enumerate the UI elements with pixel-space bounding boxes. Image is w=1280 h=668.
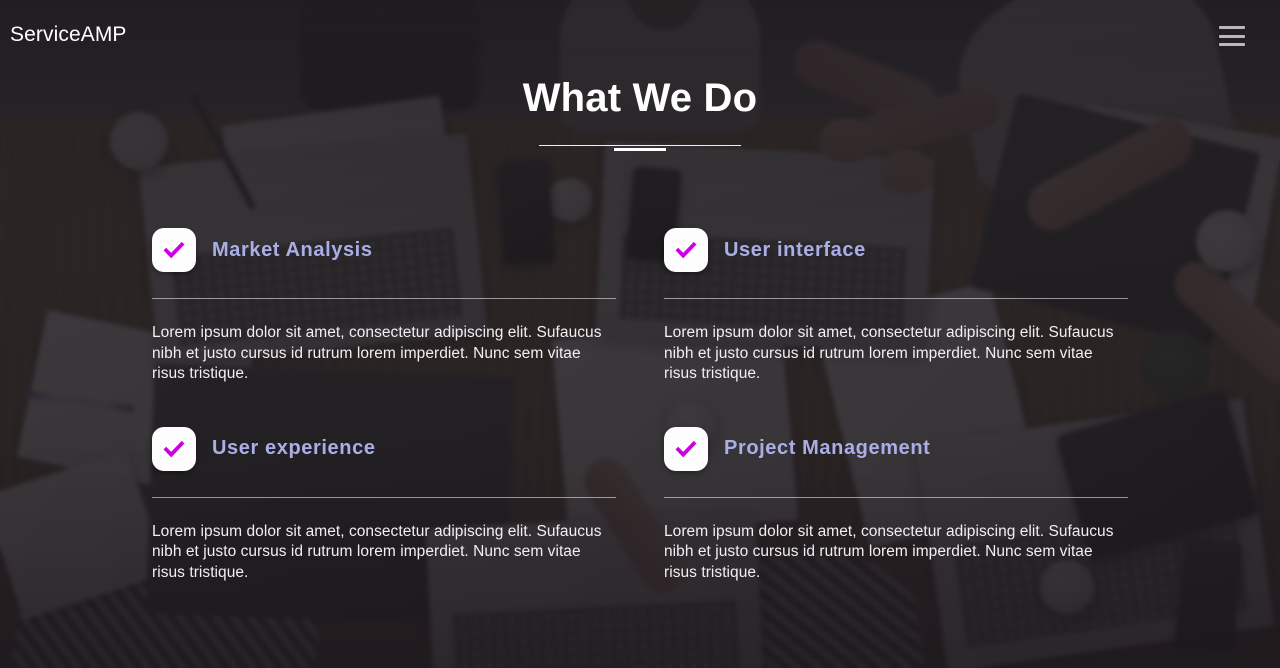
brand-logo[interactable]: ServiceAMP	[10, 24, 127, 45]
service-card-body: Lorem ipsum dolor sit amet, consectetur …	[664, 522, 1116, 584]
hamburger-bar-2	[1219, 35, 1245, 38]
service-card-title: User interface	[724, 239, 866, 262]
heading-divider	[0, 138, 1280, 154]
check-icon	[674, 238, 698, 262]
service-card-header: User experience	[152, 425, 616, 473]
service-card-user-interface[interactable]: User interface Lorem ipsum dolor sit ame…	[664, 226, 1128, 385]
service-card-body: Lorem ipsum dolor sit amet, consectetur …	[152, 522, 604, 584]
service-card-title: User experience	[212, 437, 376, 460]
services-grid: Market Analysis Lorem ipsum dolor sit am…	[152, 226, 1128, 583]
hamburger-bar-1	[1219, 26, 1245, 29]
check-icon	[162, 437, 186, 461]
service-card-rule	[664, 298, 1128, 299]
heading-divider-long-line	[539, 145, 741, 146]
hamburger-menu-icon[interactable]	[1219, 26, 1245, 46]
service-card-body: Lorem ipsum dolor sit amet, consectetur …	[664, 323, 1116, 385]
check-icon-badge	[664, 427, 708, 471]
check-icon-badge	[152, 228, 196, 272]
service-card-title: Market Analysis	[212, 239, 373, 262]
heading-divider-accent-line	[614, 148, 666, 151]
service-card-header: Project Management	[664, 425, 1128, 473]
service-card-rule	[152, 298, 616, 299]
service-card-rule	[664, 497, 1128, 498]
service-card-body: Lorem ipsum dolor sit amet, consectetur …	[152, 323, 604, 385]
check-icon	[162, 238, 186, 262]
service-card-user-experience[interactable]: User experience Lorem ipsum dolor sit am…	[152, 425, 616, 584]
service-card-market-analysis[interactable]: Market Analysis Lorem ipsum dolor sit am…	[152, 226, 616, 385]
check-icon	[674, 437, 698, 461]
check-icon-badge	[152, 427, 196, 471]
service-card-title: Project Management	[724, 437, 930, 460]
service-card-project-management[interactable]: Project Management Lorem ipsum dolor sit…	[664, 425, 1128, 584]
page-stage: ServiceAMP What We Do Market	[0, 0, 1280, 668]
service-card-rule	[152, 497, 616, 498]
page-content: ServiceAMP What We Do Market	[0, 0, 1280, 668]
section-heading: What We Do	[0, 76, 1280, 121]
service-card-header: User interface	[664, 226, 1128, 274]
check-icon-badge	[664, 228, 708, 272]
service-card-header: Market Analysis	[152, 226, 616, 274]
navbar: ServiceAMP	[0, 0, 1280, 68]
hamburger-bar-3	[1219, 43, 1245, 46]
